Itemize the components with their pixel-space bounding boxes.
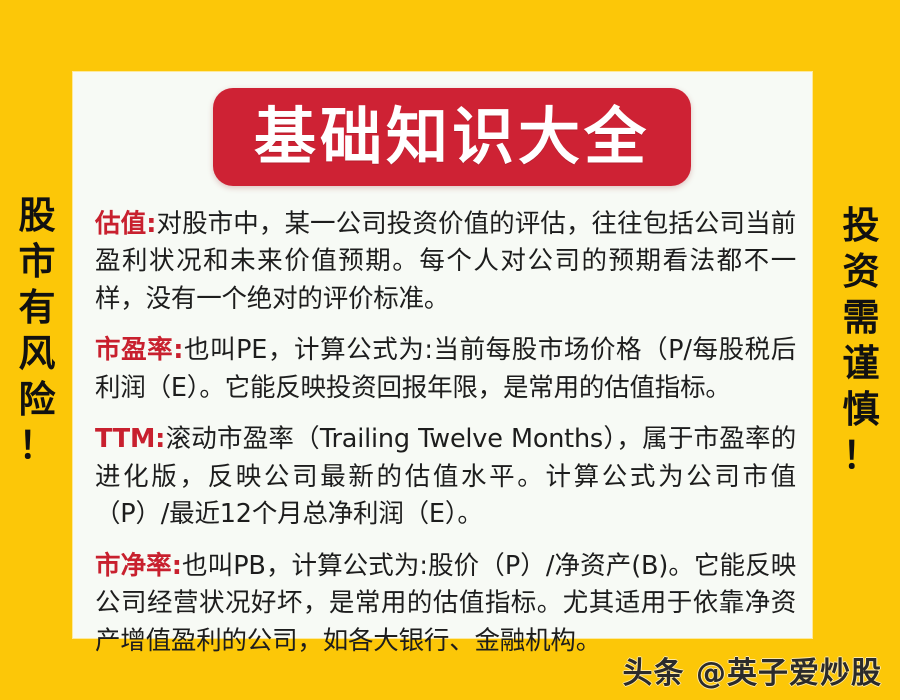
glossary-definition: 对股市中，某一公司投资价值的评估，往往包括公司当前盈利状况和未来价值预期。每个人… [95, 209, 796, 314]
glossary-list: 估值:对股市中，某一公司投资价值的评估，往往包括公司当前盈利状况和未来价值预期。… [95, 206, 796, 660]
slogan-right-char: 需 [830, 298, 892, 344]
glossary-entry: 市盈率:也叫PE，计算公式为:当前每股市场价格（P/每股税后利润（E）。它能反映… [95, 332, 796, 407]
glossary-term: 市盈率 [95, 335, 173, 365]
slogan-left-char: 险 [6, 380, 68, 426]
slogan-right-char: 投 [830, 206, 892, 252]
slogan-left-char: 股 [6, 196, 68, 242]
title-banner: 基础知识大全 [213, 88, 691, 186]
glossary-term: 估值 [95, 209, 146, 239]
slogan-right-char: 谨 [830, 344, 892, 390]
glossary-separator: : [155, 424, 165, 454]
poster-canvas: 股 市 有 风 险 ！ 投 资 需 谨 慎 ！ 基础知识大全 估值:对股市中，某… [0, 0, 900, 700]
slogan-left: 股 市 有 风 险 ！ [6, 196, 68, 472]
slogan-right-char: 资 [830, 252, 892, 298]
content-card: 基础知识大全 估值:对股市中，某一公司投资价值的评估，往往包括公司当前盈利状况和… [73, 72, 812, 638]
watermark: 头条 @英子爱炒股 [623, 648, 882, 692]
slogan-left-char: 市 [6, 242, 68, 288]
page-title: 基础知识大全 [254, 106, 650, 168]
slogan-right: 投 资 需 谨 慎 ！ [830, 206, 892, 482]
glossary-definition: 也叫PE，计算公式为:当前每股市场价格（P/每股税后利润（E）。它能反映投资回报… [95, 335, 796, 402]
glossary-separator: : [173, 335, 183, 365]
glossary-entry: TTM:滚动市盈率（Trailing Twelve Months），属于市盈率的… [95, 421, 796, 533]
slogan-right-char: 慎 [830, 390, 892, 436]
glossary-entry: 市净率:也叫PB，计算公式为:股价（P）/净资产(B)。它能反映公司经营状况好坏… [95, 548, 796, 660]
glossary-definition: 也叫PB，计算公式为:股价（P）/净资产(B)。它能反映公司经营状况好坏，是常用… [95, 551, 796, 656]
slogan-left-char: 风 [6, 334, 68, 380]
slogan-left-char: ！ [6, 426, 68, 472]
slogan-right-char: ！ [830, 436, 892, 482]
slogan-left-char: 有 [6, 288, 68, 334]
glossary-term: TTM [95, 424, 155, 454]
glossary-term: 市净率 [95, 551, 172, 581]
glossary-separator: : [172, 551, 182, 581]
glossary-entry: 估值:对股市中，某一公司投资价值的评估，往往包括公司当前盈利状况和未来价值预期。… [95, 206, 796, 318]
glossary-separator: : [146, 209, 156, 239]
glossary-definition: 滚动市盈率（Trailing Twelve Months），属于市盈率的进化版，… [95, 424, 796, 529]
